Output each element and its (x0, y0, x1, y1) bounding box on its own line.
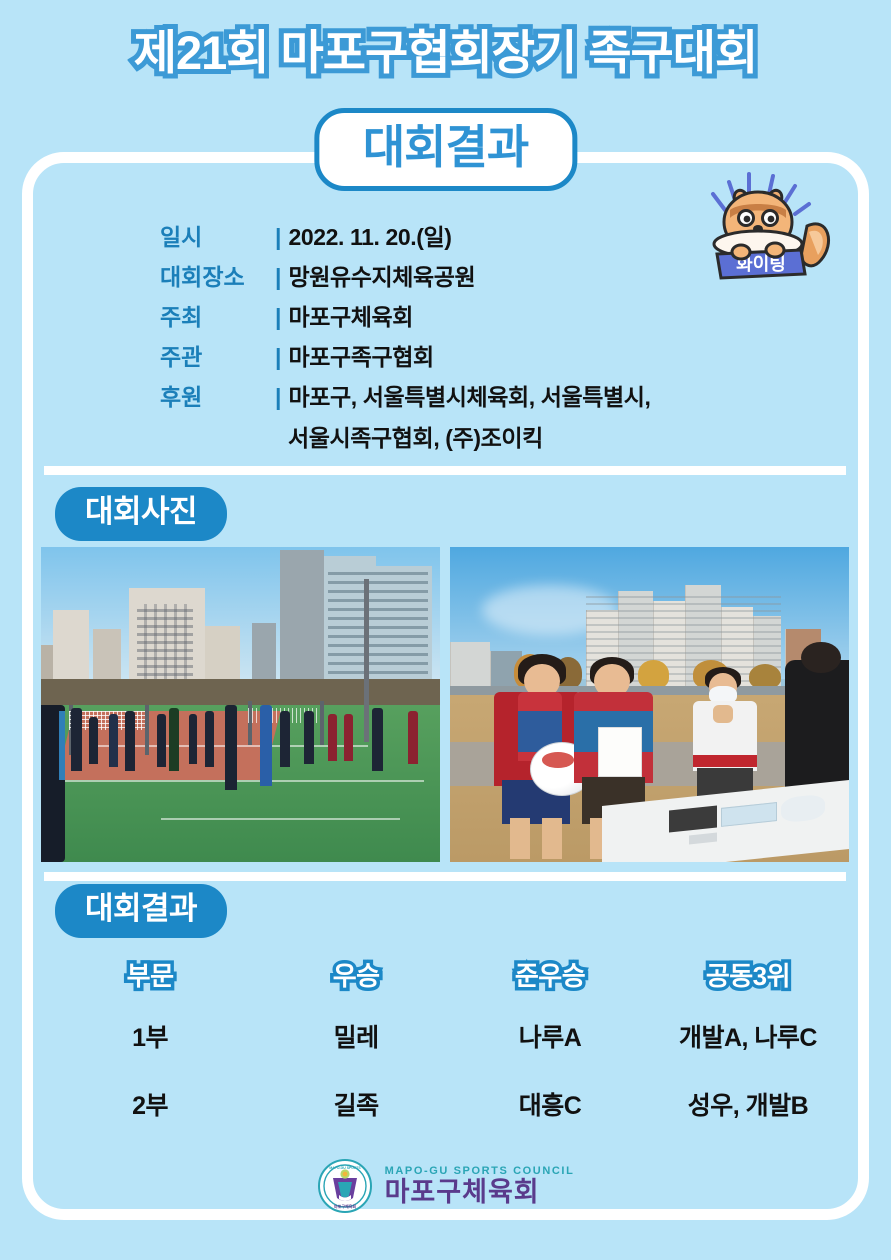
info-value-host: 마포구체육회 (288, 302, 413, 333)
info-label-sponsor: 후원 (160, 382, 272, 413)
footer: MAPO-GU SPORTS 마포구체육회 MAPO-GU SPORTS COU… (0, 1158, 891, 1214)
squirrel-mascot: 화이팅 (669, 160, 849, 280)
footer-text: MAPO-GU SPORTS COUNCIL 마포구체육회 (385, 1166, 575, 1207)
info-label-venue: 대회장소 (160, 262, 272, 293)
table-header-row: 부문 우승 준우승 공동3위 (41, 946, 849, 1002)
section-badge-photos: 대회사진 (55, 487, 227, 541)
info-label-datetime: 일시 (160, 222, 272, 253)
column-header-third: 공동3위 (647, 956, 849, 993)
info-value-sponsor-line2: 서울시족구협회, (주)조이킥 (288, 419, 651, 453)
info-value-sponsor: 마포구, 서울특별시체육회, 서울특별시, (288, 382, 650, 413)
info-value-venue: 망원유수지체육공원 (288, 262, 475, 293)
cell-third: 성우, 개발B (647, 1086, 849, 1122)
cell-division: 2부 (41, 1086, 259, 1122)
poster-root: 제21회 마포구협회장기 족구대회 대회결과 (0, 0, 891, 1260)
subtitle-badge-label: 대회결과 (363, 122, 528, 173)
column-header-division: 부문 (41, 956, 259, 993)
info-label-organizer: 주관 (160, 342, 272, 373)
info-separator: | (275, 222, 281, 253)
photo-gallery (41, 547, 849, 862)
cell-champion: 길족 (259, 1086, 453, 1122)
svg-text:MAPO-GU SPORTS: MAPO-GU SPORTS (329, 1166, 361, 1170)
info-separator: | (275, 382, 281, 413)
info-row-venue: 대회장소 | 망원유수지체육공원 (160, 262, 651, 293)
section-badge-results: 대회결과 (55, 884, 227, 938)
section-divider-photos (44, 466, 846, 475)
footer-english-name: MAPO-GU SPORTS COUNCIL (385, 1166, 575, 1178)
table-row: 1부 밀레 나루A 개발A, 나루C (41, 1002, 849, 1070)
cell-division: 1부 (41, 1018, 259, 1054)
info-row-datetime: 일시 | 2022. 11. 20.(일) (160, 222, 651, 253)
info-row-host: 주최 | 마포구체육회 (160, 302, 651, 333)
info-row-organizer: 주관 | 마포구족구협회 (160, 342, 651, 373)
column-header-runner-up: 준우승 (453, 956, 647, 993)
award-ceremony-photo (450, 547, 849, 862)
cell-champion: 밀레 (259, 1018, 453, 1054)
svg-text:마포구체육회: 마포구체육회 (334, 1203, 356, 1209)
section-divider-results (44, 872, 846, 881)
info-row-sponsor: 후원 | 마포구, 서울특별시체육회, 서울특별시, (160, 382, 651, 413)
section-badge-results-label: 대회결과 (85, 892, 197, 926)
subtitle-badge: 대회결과 (314, 108, 577, 191)
event-info-list: 일시 | 2022. 11. 20.(일) 대회장소 | 망원유수지체육공원 주… (160, 222, 651, 453)
info-separator: | (275, 262, 281, 293)
info-value-datetime: 2022. 11. 20.(일) (288, 222, 451, 253)
section-badge-photos-label: 대회사진 (85, 495, 197, 529)
page-title: 제21회 마포구협회장기 족구대회 (134, 26, 758, 80)
info-separator: | (275, 342, 281, 373)
footer-korean-name: 마포구체육회 (385, 1178, 575, 1206)
results-table: 부문 우승 준우승 공동3위 1부 밀레 나루A 개발A, 나루C 2부 길족 … (41, 946, 849, 1138)
cell-runner-up: 나루A (453, 1018, 647, 1054)
column-header-champion: 우승 (259, 956, 453, 993)
info-label-host: 주최 (160, 302, 272, 333)
cell-runner-up: 대흥C (453, 1086, 647, 1122)
info-value-organizer: 마포구족구협회 (288, 342, 433, 373)
tournament-court-photo (41, 547, 440, 862)
table-row: 2부 길족 대흥C 성우, 개발B (41, 1070, 849, 1138)
info-separator: | (275, 302, 281, 333)
mapo-gu-sports-council-emblem: MAPO-GU SPORTS 마포구체육회 (317, 1158, 373, 1214)
cell-third: 개발A, 나루C (647, 1018, 849, 1054)
page-title-wrap: 제21회 마포구협회장기 족구대회 (0, 26, 891, 80)
